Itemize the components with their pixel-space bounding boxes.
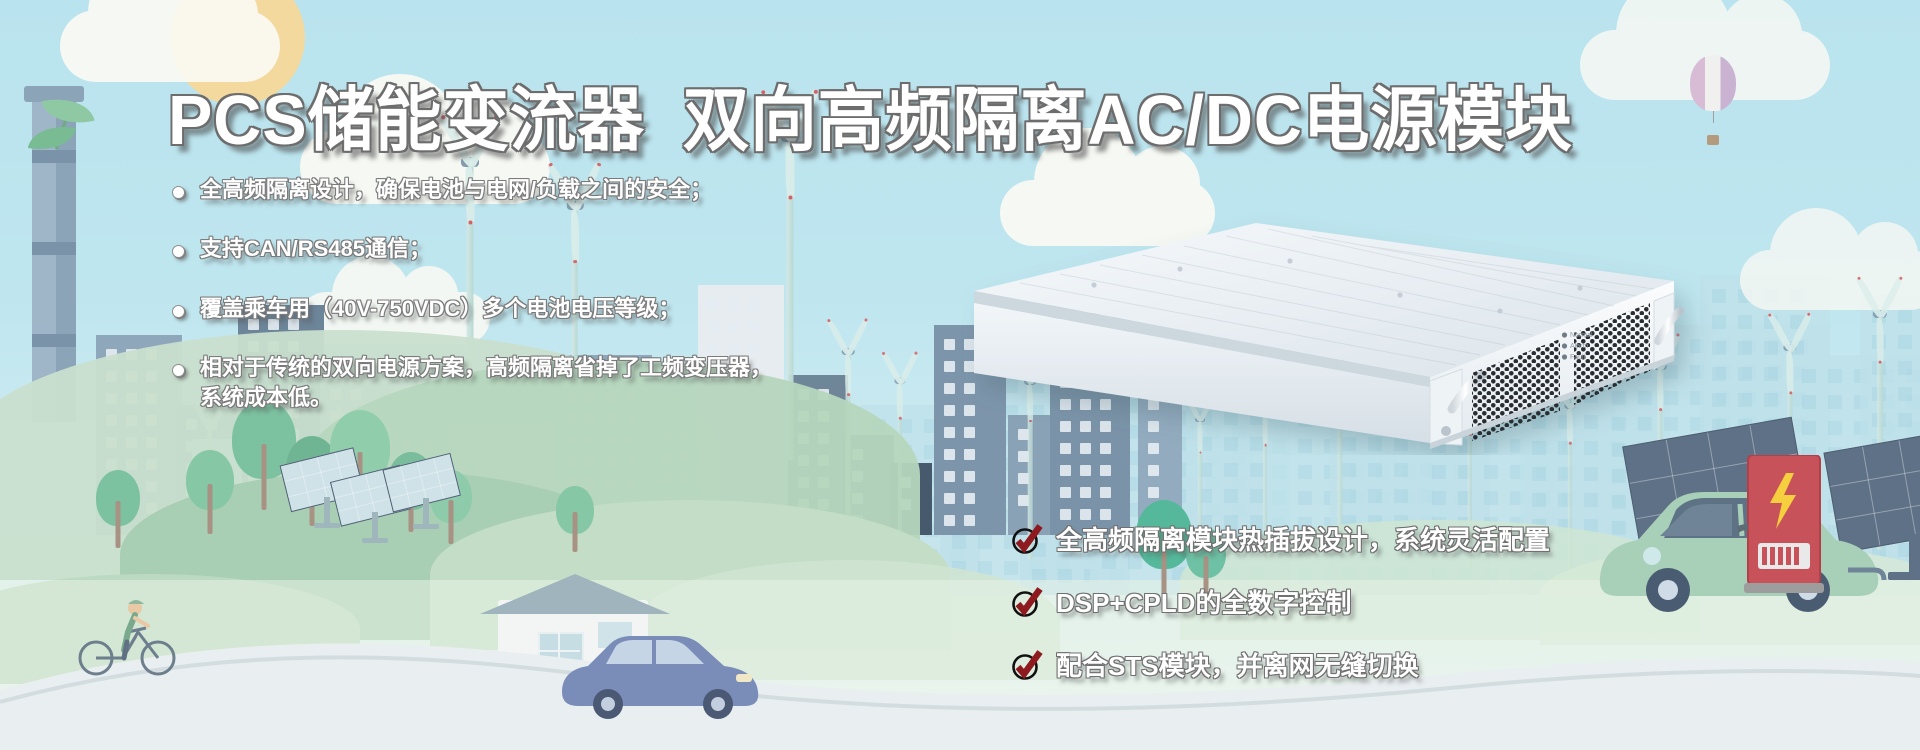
solar-panel-icon bbox=[392, 460, 460, 538]
solar-panel bbox=[382, 453, 461, 513]
feature-text: 相对于传统的双向电源方案，高频隔离省掉了工频变压器， 系统成本低。 bbox=[200, 353, 772, 414]
road bbox=[0, 620, 1920, 750]
panel-pole bbox=[372, 512, 378, 538]
ev-charging-station-icon bbox=[1738, 455, 1848, 595]
panel-grid-line bbox=[299, 462, 311, 507]
list-item: 配合STS模块，并离网无缝切换 bbox=[1010, 646, 1550, 683]
feature-text: 全高频隔离设计，确保电池与电网/负载之间的安全； bbox=[200, 175, 712, 205]
page-title: PCS储能变流器双向高频隔离AC/DC电源模块 bbox=[168, 64, 1573, 165]
panel-grid-line bbox=[387, 468, 453, 485]
bullet-dot-icon bbox=[172, 245, 185, 258]
pcs-power-module-device: Normal Alarm Fault bbox=[960, 195, 1720, 445]
feature-text: 覆盖乘车用（40V-750VDC）多个电池电压等级； bbox=[200, 294, 680, 324]
panel-grid-line bbox=[417, 462, 428, 503]
list-item: 覆盖乘车用（40V-750VDC）多个电池电压等级； bbox=[172, 294, 872, 324]
panel-grid-line bbox=[400, 466, 411, 507]
led-label-fault: Fault bbox=[1570, 354, 1586, 361]
car-icon bbox=[550, 620, 770, 720]
title-part-1: PCS储能变流器 bbox=[168, 81, 645, 159]
panel-pole bbox=[324, 497, 330, 523]
list-item: 相对于传统的双向电源方案，高频隔离省掉了工频变压器， 系统成本低。 bbox=[172, 353, 872, 414]
list-item: 支持CAN/RS485通信； bbox=[172, 234, 872, 264]
panel-grid-line bbox=[433, 458, 444, 499]
bullet-dot-icon bbox=[172, 305, 185, 318]
led-label-alarm: Alarm bbox=[1570, 343, 1588, 350]
list-item: 全高频隔离设计，确保电池与电网/负载之间的安全； bbox=[172, 175, 872, 205]
panel-pole bbox=[423, 498, 429, 524]
bicycle-icon bbox=[78, 598, 188, 678]
pcs-product-banner: Normal Alarm Fault PCS储能变流器双向高频隔离AC/DC电源… bbox=[0, 0, 1920, 750]
panel-base bbox=[362, 538, 388, 543]
bullet-dot-icon bbox=[172, 364, 185, 377]
benefit-text: 全高频隔离模块热插拔设计，系统灵活配置 bbox=[1056, 520, 1550, 557]
check-circle-icon bbox=[1010, 522, 1044, 556]
panel-grid-line bbox=[348, 478, 360, 521]
feature-list: 全高频隔离设计，确保电池与电网/负载之间的安全； 支持CAN/RS485通信； … bbox=[172, 175, 872, 414]
panel-base bbox=[413, 524, 439, 529]
panel-grid-line bbox=[1898, 440, 1916, 539]
benefit-list: 全高频隔离模块热插拔设计，系统灵活配置 DSP+CPLD的全数字控制 配合STS… bbox=[1010, 520, 1550, 709]
bullet-dot-icon bbox=[172, 186, 185, 199]
panel-base bbox=[314, 523, 340, 528]
panel-grid-line bbox=[390, 481, 456, 498]
panel-grid-line bbox=[317, 457, 329, 502]
check-circle-icon bbox=[1010, 585, 1044, 619]
check-circle-icon bbox=[1010, 648, 1044, 682]
list-item: 全高频隔离模块热插拔设计，系统灵活配置 bbox=[1010, 520, 1550, 557]
benefit-text: DSP+CPLD的全数字控制 bbox=[1056, 583, 1351, 620]
feature-text: 支持CAN/RS485通信； bbox=[200, 234, 431, 264]
panel-grid-line bbox=[365, 474, 377, 517]
list-item: DSP+CPLD的全数字控制 bbox=[1010, 583, 1550, 620]
title-part-2: 双向高频隔离AC/DC电源模块 bbox=[683, 81, 1573, 159]
benefit-text: 配合STS模块，并离网无缝切换 bbox=[1056, 646, 1419, 683]
led-label-normal: Normal bbox=[1570, 332, 1593, 339]
